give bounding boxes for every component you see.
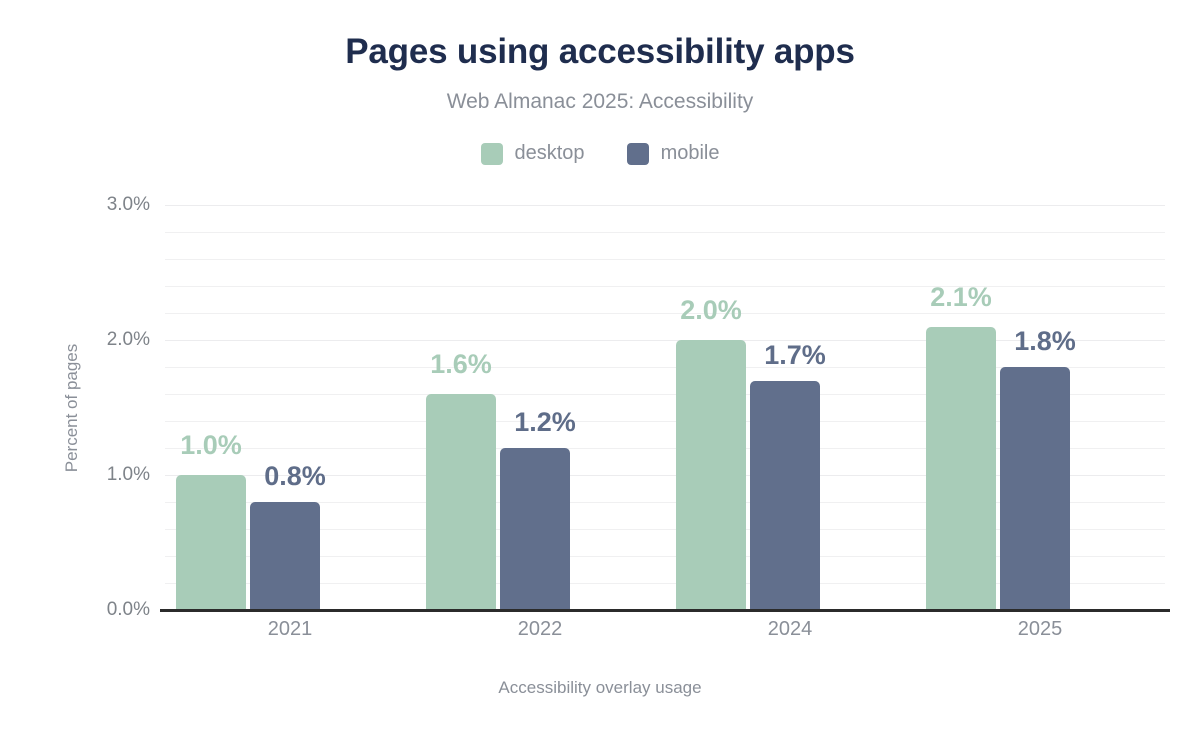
x-axis-title: Accessibility overlay usage: [0, 678, 1200, 698]
chart-title: Pages using accessibility apps: [0, 32, 1200, 72]
bar-group: 1.0%0.8%: [165, 205, 415, 610]
bar-value-label-mobile-2022: 1.2%: [514, 407, 576, 438]
bar-mobile-2022[interactable]: [500, 448, 570, 610]
bar-value-label-desktop-2024: 2.0%: [680, 295, 742, 326]
y-tick-label: 0.0%: [60, 599, 150, 621]
bar-desktop-2025[interactable]: [926, 327, 996, 611]
bar-value-label-desktop-2025: 2.1%: [930, 282, 992, 313]
x-tick-label: 2025: [915, 618, 1165, 654]
legend-swatch-mobile: [627, 143, 649, 165]
y-tick-label: 2.0%: [60, 329, 150, 351]
x-axis-baseline: [160, 609, 1170, 612]
chart-legend: desktop mobile: [0, 142, 1200, 165]
legend-item-desktop[interactable]: desktop: [481, 142, 585, 165]
x-tick-label: 2021: [165, 618, 415, 654]
bar-mobile-2024[interactable]: [750, 381, 820, 611]
bar-value-label-desktop-2021: 1.0%: [180, 430, 242, 461]
bar-desktop-2021[interactable]: [176, 475, 246, 610]
y-axis-ticks: 0.0%1.0%2.0%3.0%: [55, 205, 150, 610]
chart-figure: Pages using accessibility apps Web Alman…: [0, 0, 1200, 742]
legend-swatch-desktop: [481, 143, 503, 165]
legend-label-mobile: mobile: [661, 142, 720, 165]
bar-series-container: 1.0%0.8%1.6%1.2%2.0%1.7%2.1%1.8%: [165, 205, 1165, 610]
legend-label-desktop: desktop: [515, 142, 585, 165]
bar-group: 1.6%1.2%: [415, 205, 665, 610]
bar-value-label-mobile-2021: 0.8%: [264, 461, 326, 492]
bar-value-label-desktop-2022: 1.6%: [430, 349, 492, 380]
bar-mobile-2021[interactable]: [250, 502, 320, 610]
chart-subtitle: Web Almanac 2025: Accessibility: [0, 90, 1200, 114]
y-tick-label: 3.0%: [60, 194, 150, 216]
x-tick-label: 2024: [665, 618, 915, 654]
legend-item-mobile[interactable]: mobile: [627, 142, 720, 165]
bar-value-label-mobile-2024: 1.7%: [764, 340, 826, 371]
bar-mobile-2025[interactable]: [1000, 367, 1070, 610]
bar-group: 2.1%1.8%: [915, 205, 1165, 610]
plot-area: 1.0%0.8%1.6%1.2%2.0%1.7%2.1%1.8%: [165, 205, 1165, 610]
bar-desktop-2022[interactable]: [426, 394, 496, 610]
x-axis-ticks: 2021202220242025: [165, 618, 1165, 654]
x-tick-label: 2022: [415, 618, 665, 654]
bar-group: 2.0%1.7%: [665, 205, 915, 610]
y-tick-label: 1.0%: [60, 464, 150, 486]
bar-desktop-2024[interactable]: [676, 340, 746, 610]
bar-value-label-mobile-2025: 1.8%: [1014, 326, 1076, 357]
